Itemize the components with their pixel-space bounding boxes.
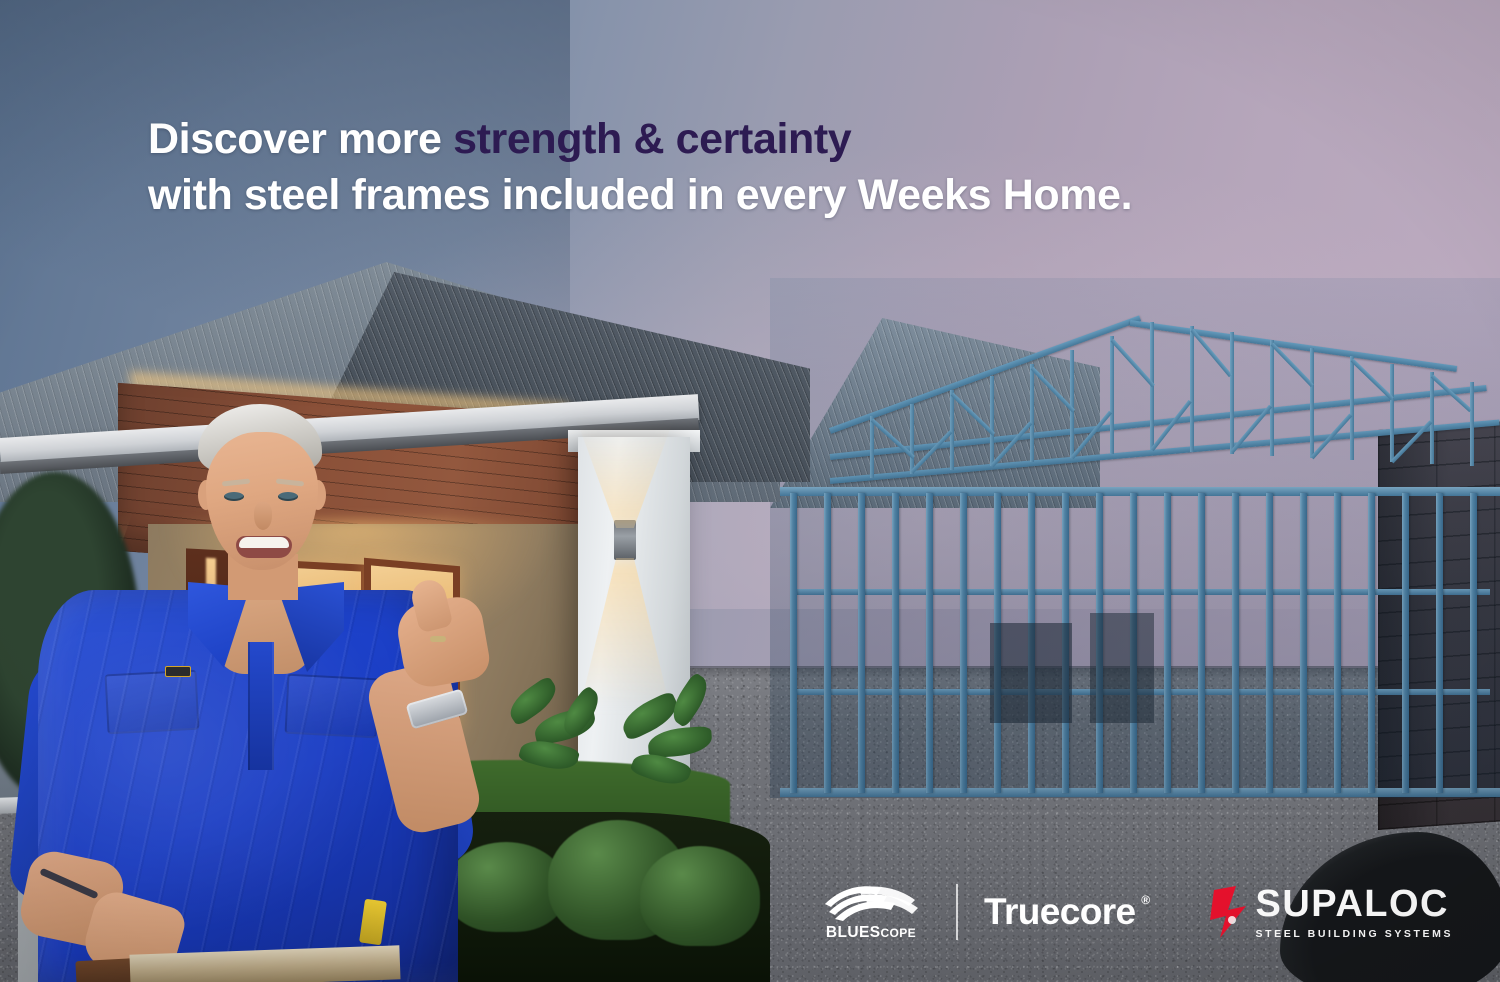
logo-divider [956, 884, 958, 940]
bluescope-word-s: S [870, 924, 881, 941]
shirt-brand-tag [165, 666, 191, 677]
supaloc-logo[interactable]: SUPALOC STEEL BUILDING SYSTEMS [1210, 884, 1454, 940]
steel-wall-frame [790, 493, 1490, 793]
headline: Discover more strength & certainty with … [148, 112, 1132, 224]
top-plate [780, 487, 1500, 496]
mouth [236, 536, 292, 558]
eye-right [278, 492, 298, 501]
truecore-wordmark: Truecore [984, 891, 1136, 932]
nose [254, 502, 272, 530]
finger-ring [430, 636, 446, 642]
presenter-figure [10, 404, 480, 982]
supaloc-wordmark: SUPALOC [1256, 885, 1454, 923]
shirt-pocket-right [284, 674, 379, 739]
bluescope-word-cope: COPE [880, 926, 916, 940]
advertisement-banner: Discover more strength & certainty with … [0, 0, 1500, 982]
supaloc-tagline: STEEL BUILDING SYSTEMS [1256, 928, 1454, 940]
steel-frame-structure [770, 278, 1500, 798]
headline-accent: strength & certainty [453, 115, 851, 163]
shirt-pocket-left [104, 670, 199, 735]
roof-truss-assembly [830, 278, 1500, 518]
truecore-registered-mark: ® [1141, 893, 1149, 907]
supaloc-lightning-icon [1210, 884, 1264, 940]
bluescope-wordmark: BLUESCOPE [826, 924, 916, 942]
bluescope-word-blue: BLUE [826, 924, 870, 941]
headline-prefix: Discover more [148, 115, 453, 163]
bluescope-ribbon-icon [819, 882, 923, 922]
eye-left [224, 492, 244, 501]
shrub [640, 846, 760, 946]
bluescope-logo[interactable]: BLUESCOPE [812, 882, 930, 942]
headline-line-1: Discover more strength & certainty [148, 112, 1132, 168]
headline-line-2: with steel frames included in every Week… [148, 168, 1132, 224]
truecore-logo[interactable]: Truecore® [984, 891, 1150, 933]
bottom-plate [780, 788, 1500, 797]
partner-logo-bar: BLUESCOPE Truecore® SUPALOC STEEL BUILDI… [812, 876, 1453, 948]
teeth [239, 537, 289, 548]
shirt-placket [248, 642, 274, 770]
supaloc-text-block: SUPALOC STEEL BUILDING SYSTEMS [1256, 885, 1454, 940]
